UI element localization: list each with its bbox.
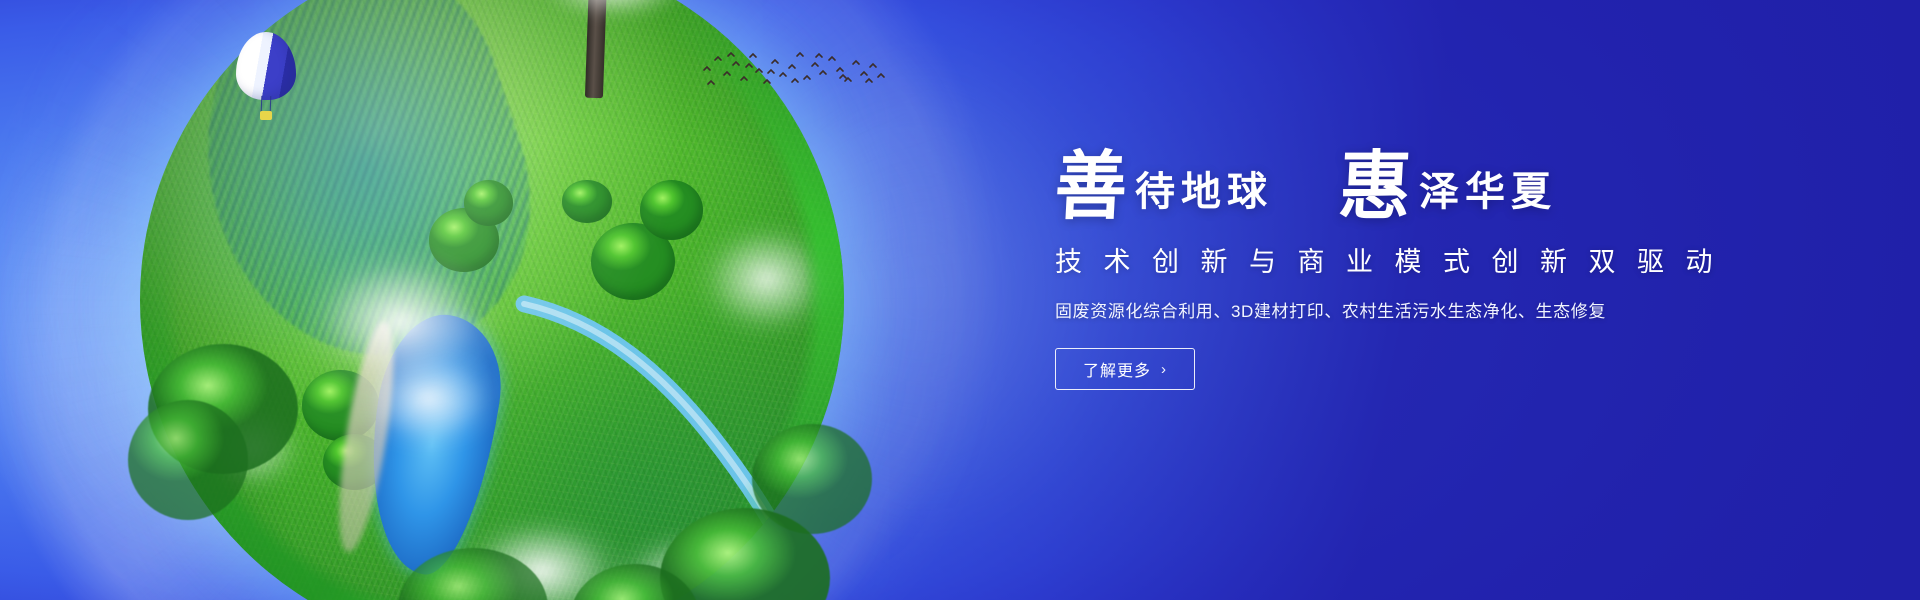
balloon-strings [261, 96, 272, 112]
large-tree-icon [475, 0, 715, 101]
tree-cluster [562, 180, 611, 222]
balloon-basket [260, 111, 272, 120]
cloud [689, 216, 844, 343]
tree-cluster [640, 180, 703, 240]
page-title: 善 待地球 惠 泽华夏 [1055, 146, 1815, 218]
lake [353, 306, 512, 582]
tree-cluster [429, 208, 499, 271]
hero-text-block: 善 待地球 惠 泽华夏 技 术 创 新 与 商 业 模 式 创 新 双 驱 动 … [1055, 146, 1815, 390]
headline-char-hui: 惠 [1337, 149, 1421, 224]
tree-cluster [323, 434, 386, 490]
hot-air-balloon-icon [236, 32, 296, 124]
page-description: 固废资源化综合利用、3D建材打印、农村生活污水生态净化、生态修复 [1055, 297, 1815, 322]
headline-text-zehuaxia: 泽华夏 [1419, 172, 1557, 218]
tree-cluster [302, 370, 379, 440]
chevron-right-icon: › [1161, 361, 1167, 378]
tree-cluster [464, 180, 513, 226]
page-subtitle: 技 术 创 新 与 商 业 模 式 创 新 双 驱 动 [1055, 240, 1815, 279]
tree-mist [519, 0, 709, 28]
learn-more-button[interactable]: 了解更多 › [1055, 348, 1195, 390]
learn-more-label: 了解更多 [1083, 357, 1151, 381]
bird-flock-icon [700, 48, 890, 104]
hero-banner: 善 待地球 惠 泽华夏 技 术 创 新 与 商 业 模 式 创 新 双 驱 动 … [0, 0, 1920, 600]
headline-text-daidiqiu: 待地球 [1135, 172, 1273, 218]
edge-tree [128, 400, 248, 520]
cloud [351, 342, 506, 455]
balloon-envelope [236, 32, 296, 100]
headline-char-shan: 善 [1053, 149, 1137, 224]
cloud [295, 244, 506, 399]
tree-cluster [591, 223, 675, 300]
